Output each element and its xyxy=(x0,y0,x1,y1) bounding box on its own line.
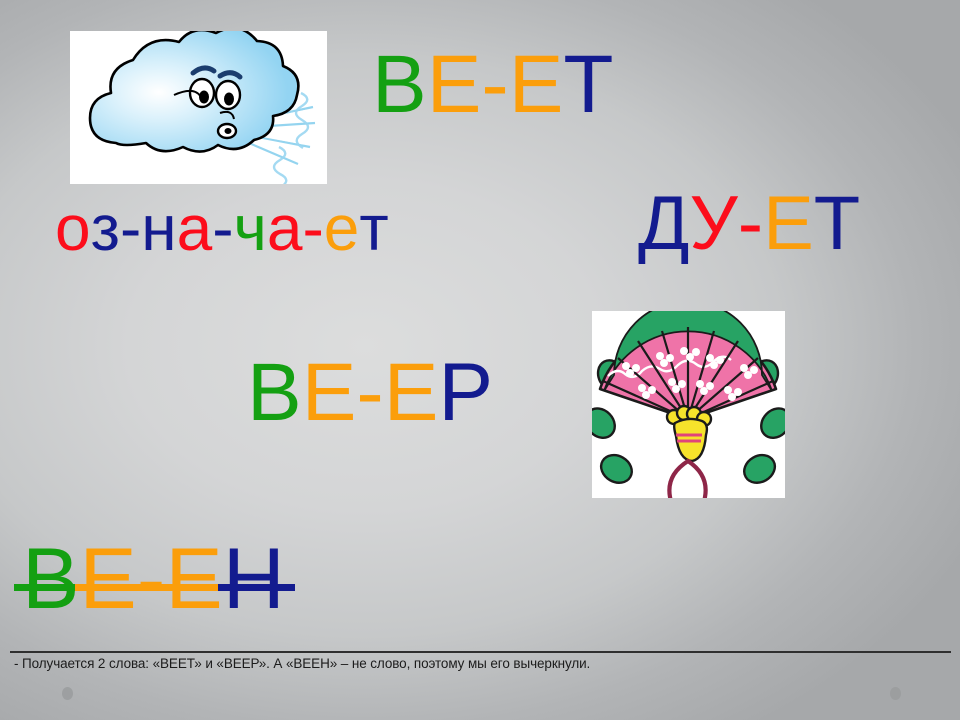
letter-veer-4: Р xyxy=(438,352,493,434)
letter-veer-2: - xyxy=(356,352,383,434)
footer-divider xyxy=(10,651,951,653)
letter-duet-0: Д xyxy=(638,186,689,262)
fan-image[interactable] xyxy=(592,311,785,498)
word-oznachaet: оз-на-ча-ет xyxy=(55,196,389,260)
letter-oznachaet-1: з xyxy=(91,196,120,260)
blowing-cloud-icon xyxy=(70,31,327,184)
letter-oznachaet-4: а xyxy=(177,196,213,260)
decorative-dot-left xyxy=(62,687,73,700)
letter-veet-4: Т xyxy=(563,44,613,126)
letter-oznachaet-2: - xyxy=(120,196,141,260)
letter-veen-2: - xyxy=(137,536,166,622)
letter-duet-1: У xyxy=(689,186,737,262)
letter-duet-2: - xyxy=(738,186,763,262)
letter-veen-1: Е xyxy=(79,536,136,622)
letter-veen-0: В xyxy=(22,536,79,622)
word-veer: ВЕ-ЕР xyxy=(247,352,493,434)
footer-note: - Получается 2 слова: «ВЕЕТ» и «ВЕЕР». А… xyxy=(14,656,944,671)
letter-veer-3: Е xyxy=(384,352,439,434)
letter-oznachaet-3: н xyxy=(141,196,176,260)
word-veet: ВЕ-ЕТ xyxy=(372,44,614,126)
folding-fan-icon xyxy=(592,311,785,498)
letter-oznachaet-8: - xyxy=(302,196,323,260)
cloud-image[interactable] xyxy=(70,31,327,184)
letter-veet-0: В xyxy=(372,44,427,126)
letter-duet-4: Т xyxy=(814,186,860,262)
letter-veer-1: Е xyxy=(302,352,357,434)
letter-oznachaet-5: - xyxy=(212,196,233,260)
letter-veen-4: Н xyxy=(223,536,285,622)
letter-veet-1: Е xyxy=(427,44,482,126)
letter-oznachaet-7: а xyxy=(267,196,303,260)
letter-oznachaet-10: т xyxy=(359,196,388,260)
letter-oznachaet-6: ч xyxy=(234,196,267,260)
letter-oznachaet-9: е xyxy=(324,196,360,260)
letter-veen-3: Е xyxy=(165,536,222,622)
letter-duet-3: Е xyxy=(763,186,814,262)
slide-canvas: ВЕ-ЕТ оз-на-ча-ет ДУ-ЕТ ВЕ-ЕР ВЕ-ЕН - По… xyxy=(0,0,960,720)
letter-veer-0: В xyxy=(247,352,302,434)
word-duet: ДУ-ЕТ xyxy=(638,186,860,262)
decorative-dot-right xyxy=(890,687,901,700)
letter-veet-3: Е xyxy=(509,44,564,126)
letter-oznachaet-0: о xyxy=(55,196,91,260)
letter-veet-2: - xyxy=(481,44,508,126)
word-veen-struck-out: ВЕ-ЕН xyxy=(22,536,285,622)
